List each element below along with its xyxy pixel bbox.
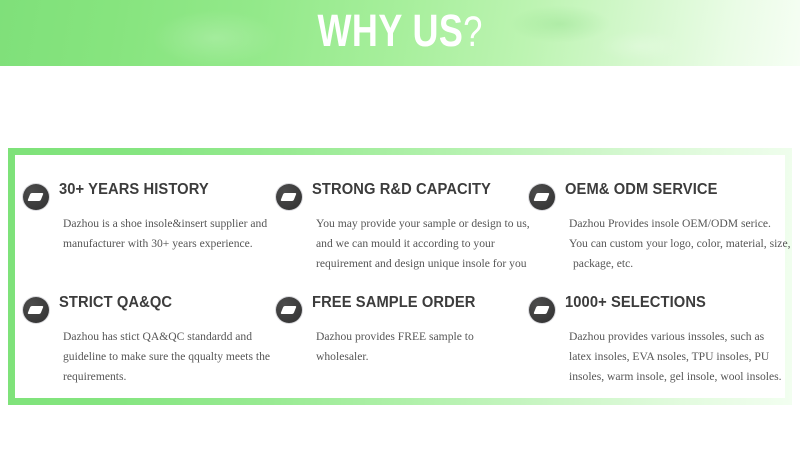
feature-description: Dazhou has stict QA&QC standardd and gui… xyxy=(63,327,277,387)
feature-grid: 30+ YEARS HISTORY Dazhou is a shoe insol… xyxy=(15,155,785,398)
feature-heading: STRONG R&D CAPACITY xyxy=(276,180,526,206)
feature-description-line: You can custom your logo, color, materia… xyxy=(569,234,783,254)
page-root: WHY US? 30+ YEARS HISTORY Dazhou is a sh… xyxy=(0,0,800,453)
page-title-text: WHY US xyxy=(318,5,464,56)
feature-description: Dazhou provides various inssoles, such a… xyxy=(569,327,783,387)
feature-description-line: Dazhou has stict QA&QC standardd and xyxy=(63,327,277,347)
feature-item: 30+ YEARS HISTORY Dazhou is a shoe insol… xyxy=(23,180,273,254)
feature-description-line: requirement and design unique insole for… xyxy=(316,254,530,274)
feature-description-line: latex insoles, EVA nsoles, TPU insoles, … xyxy=(569,347,783,367)
feature-description-line: You may provide your sample or design to… xyxy=(316,214,530,234)
feature-description-line: manufacturer with 30+ years experience. xyxy=(63,234,277,254)
feature-item: 1000+ SELECTIONS Dazhou provides various… xyxy=(529,293,779,387)
feature-heading: STRICT QA&QC xyxy=(23,293,273,319)
feature-description: Dazhou provides FREE sample to wholesale… xyxy=(316,327,530,367)
feature-description-line: Dazhou provides FREE sample to xyxy=(316,327,530,347)
feature-card: 30+ YEARS HISTORY Dazhou is a shoe insol… xyxy=(15,155,785,398)
filled-circle-parallelogram-icon xyxy=(23,184,49,210)
feature-description-line: package, etc. xyxy=(569,254,783,274)
feature-description: Dazhou is a shoe insole&insert supplier … xyxy=(63,214,277,254)
section-banner: WHY US? xyxy=(0,0,800,66)
feature-heading: OEM& ODM SERVICE xyxy=(529,180,779,206)
filled-circle-parallelogram-icon xyxy=(276,184,302,210)
feature-description-line: Dazhou Provides insole OEM/ODM serice. xyxy=(569,214,783,234)
feature-description-line: and we can mould it according to your xyxy=(316,234,530,254)
filled-circle-parallelogram-icon xyxy=(529,297,555,323)
filled-circle-parallelogram-icon xyxy=(23,297,49,323)
feature-item: FREE SAMPLE ORDER Dazhou provides FREE s… xyxy=(276,293,526,367)
feature-title: STRONG R&D CAPACITY xyxy=(312,180,491,200)
feature-description-line: insoles, warm insole, gel insole, wool i… xyxy=(569,367,783,387)
feature-item: STRONG R&D CAPACITY You may provide your… xyxy=(276,180,526,274)
feature-card-frame: 30+ YEARS HISTORY Dazhou is a shoe insol… xyxy=(8,148,792,405)
feature-title: FREE SAMPLE ORDER xyxy=(312,293,476,313)
feature-description: Dazhou Provides insole OEM/ODM serice. Y… xyxy=(569,214,783,274)
feature-description-line: Dazhou provides various inssoles, such a… xyxy=(569,327,783,347)
feature-heading: FREE SAMPLE ORDER xyxy=(276,293,526,319)
filled-circle-parallelogram-icon xyxy=(276,297,302,323)
page-title: WHY US? xyxy=(80,2,720,61)
feature-title: 1000+ SELECTIONS xyxy=(565,293,706,313)
feature-item: STRICT QA&QC Dazhou has stict QA&QC stan… xyxy=(23,293,273,387)
feature-description: You may provide your sample or design to… xyxy=(316,214,530,274)
page-title-question-mark: ? xyxy=(463,8,482,56)
feature-title: 30+ YEARS HISTORY xyxy=(59,180,209,200)
feature-title: STRICT QA&QC xyxy=(59,293,172,313)
feature-description-line: requirements. xyxy=(63,367,277,387)
feature-heading: 30+ YEARS HISTORY xyxy=(23,180,273,206)
filled-circle-parallelogram-icon xyxy=(529,184,555,210)
feature-description-line: guideline to make sure the qqualty meets… xyxy=(63,347,277,367)
feature-description-line: Dazhou is a shoe insole&insert supplier … xyxy=(63,214,277,234)
feature-item: OEM& ODM SERVICE Dazhou Provides insole … xyxy=(529,180,779,274)
feature-description-line: wholesaler. xyxy=(316,347,530,367)
feature-title: OEM& ODM SERVICE xyxy=(565,180,718,200)
feature-heading: 1000+ SELECTIONS xyxy=(529,293,779,319)
